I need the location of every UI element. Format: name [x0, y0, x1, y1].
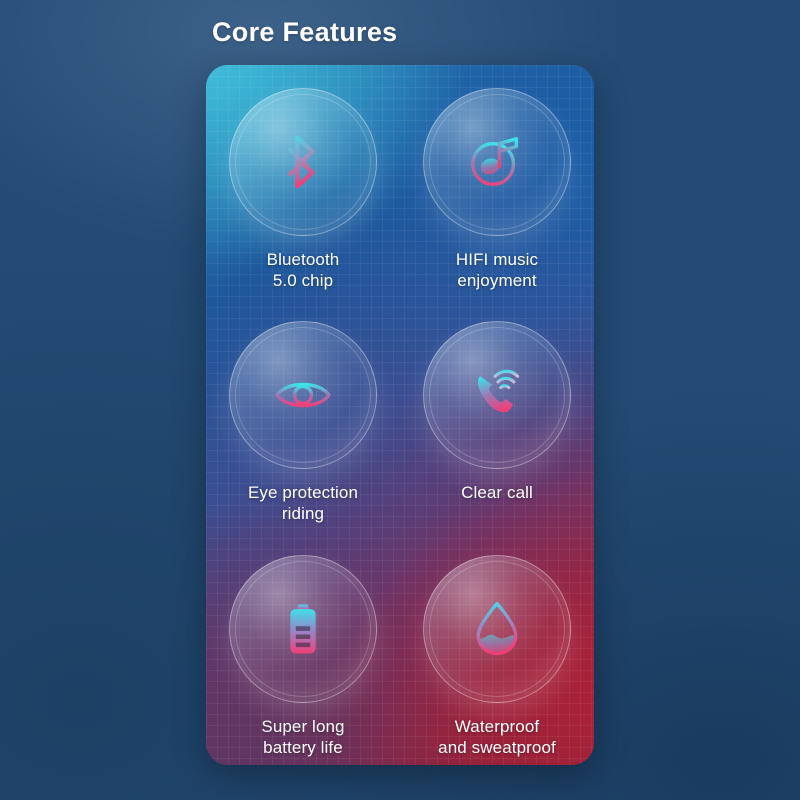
feature-bubble — [229, 555, 377, 703]
feature-bubble — [423, 555, 571, 703]
feature-label: Waterproof and sweatproof — [438, 716, 556, 758]
page-title: Core Features — [212, 17, 397, 48]
feature-item-hifi-music[interactable]: HIFI music enjoyment — [400, 65, 594, 298]
bluetooth-icon — [273, 132, 333, 192]
feature-item-clear-call[interactable]: Clear call — [400, 298, 594, 531]
water-drop-icon — [467, 599, 527, 659]
feature-bubble — [229, 321, 377, 469]
feature-item-waterproof[interactable]: Waterproof and sweatproof — [400, 532, 594, 765]
features-card: Bluetooth 5.0 chip H — [206, 65, 594, 765]
feature-bubble — [423, 88, 571, 236]
music-note-icon — [466, 131, 528, 193]
feature-label: Clear call — [461, 482, 533, 503]
feature-label: Eye protection riding — [248, 482, 358, 524]
feature-item-eye-protection[interactable]: Eye protection riding — [206, 298, 400, 531]
feature-bubble — [423, 321, 571, 469]
feature-item-battery[interactable]: Super long battery life — [206, 532, 400, 765]
eye-icon — [271, 363, 335, 427]
feature-item-bluetooth[interactable]: Bluetooth 5.0 chip — [206, 65, 400, 298]
battery-icon — [274, 600, 332, 658]
feature-bubble — [229, 88, 377, 236]
feature-label: HIFI music enjoyment — [456, 249, 538, 291]
phone-call-icon — [467, 365, 527, 425]
feature-label: Super long battery life — [261, 716, 344, 758]
feature-label: Bluetooth 5.0 chip — [267, 249, 340, 291]
features-grid: Bluetooth 5.0 chip H — [206, 65, 594, 765]
